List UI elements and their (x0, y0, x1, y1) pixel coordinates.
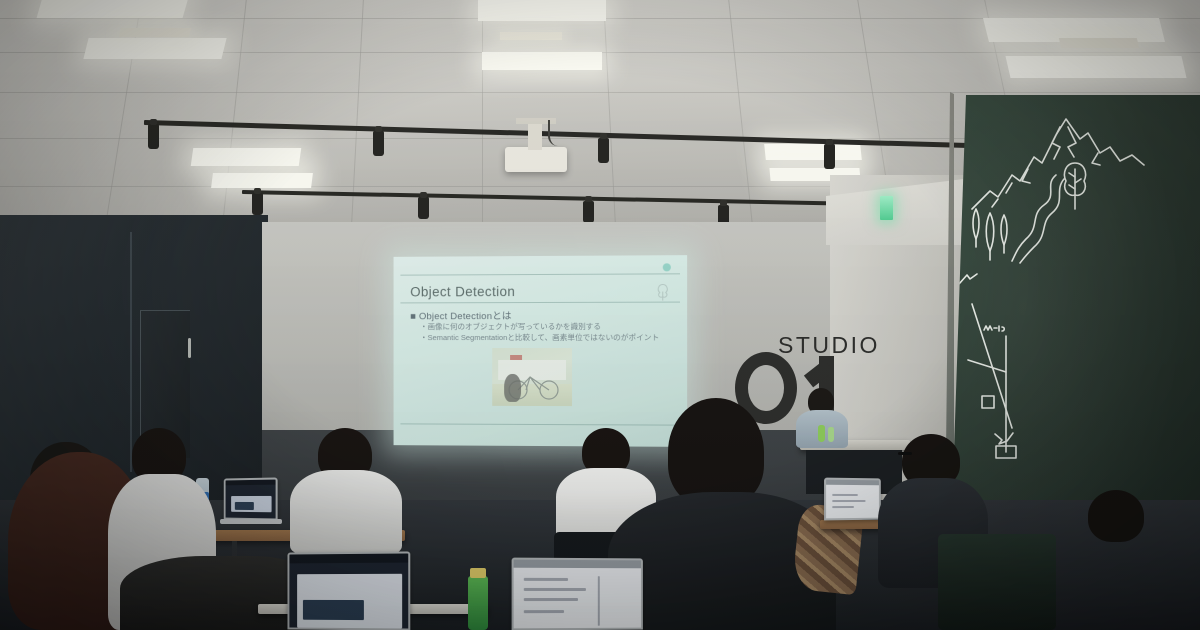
slide-figure-dog-bicycle (492, 348, 572, 406)
track-spotlight (148, 124, 159, 149)
bird-chalk-drawing (958, 273, 978, 287)
track-spotlight (373, 131, 384, 156)
slide-rule-bottom (400, 423, 680, 425)
slide-rule-under-title (400, 302, 680, 304)
mountain-range-chalk-drawing (968, 113, 1158, 223)
laptop-text-line (524, 598, 578, 601)
bird-chalk-drawing (993, 430, 1015, 448)
laptop-screen[interactable] (224, 477, 278, 520)
drink-bottle[interactable] (818, 425, 825, 442)
laptop-panel-divider (598, 576, 600, 626)
welcome-text-chalk-scribble (983, 324, 1007, 333)
presentation-slide: Object Detection ■ Object Detectionとは ・画… (400, 261, 680, 440)
ceiling-light-panel (478, 0, 606, 21)
bottle-cap (470, 568, 486, 578)
laptop-screen[interactable] (512, 558, 643, 630)
emergency-exit-sign (880, 196, 893, 220)
laptop-content-thumb (235, 502, 254, 510)
ceiling-light-panel (500, 32, 562, 40)
ceiling-light-panel (119, 28, 191, 37)
ceiling-light-panel (83, 38, 226, 59)
drink-bottle[interactable] (468, 576, 488, 630)
presentation-room-photo: STUDIO (0, 0, 1200, 630)
door-handle[interactable] (188, 338, 191, 358)
laptop-titlebar (226, 480, 276, 485)
wall-seam (130, 232, 132, 472)
ceiling-light-panel (764, 144, 862, 160)
chair (938, 534, 1056, 630)
slide-logo-dot-icon (663, 263, 671, 271)
drink-bottle[interactable] (828, 427, 834, 442)
ceiling-light-panel (482, 52, 602, 70)
laptop-text-line (524, 610, 564, 613)
laptop-screen[interactable] (824, 478, 881, 521)
ceiling-projector (505, 147, 567, 172)
audience-person-foreground (120, 556, 310, 630)
slide-title: Object Detection (410, 284, 515, 299)
ceiling-light-panel (1059, 38, 1139, 48)
laptop-base[interactable] (220, 519, 282, 524)
eyeglasses-icon (898, 452, 912, 455)
ceiling-light-panel (211, 173, 313, 188)
laptop-text-line (524, 578, 568, 581)
pine-trees-chalk-drawing (968, 205, 1016, 261)
winding-road-chalk-drawing (1010, 173, 1070, 263)
slide-bullet-1: ・画像に何のオブジェクトが写っているかを識別する (420, 321, 601, 332)
track-spotlight (418, 197, 429, 219)
laptop-screen[interactable] (287, 551, 410, 630)
track-spotlight (824, 144, 835, 169)
laptop-text-line (832, 500, 865, 502)
slide-rule-top (400, 273, 680, 275)
laptop-text-line (832, 494, 858, 496)
studio-wall-graphic-word: STUDIO (778, 332, 880, 359)
ceiling-light-panel (1005, 56, 1186, 78)
ceiling-light-panel (37, 0, 190, 18)
laptop-titlebar (514, 560, 641, 569)
audience-body (290, 470, 402, 554)
audience-head-foreground (668, 398, 764, 506)
broadleaf-tree-chalk-drawing (1060, 157, 1090, 212)
laptop-content-thumb (303, 600, 364, 620)
track-spotlight (252, 193, 263, 215)
ceiling-light-panel (191, 148, 302, 166)
laptop-text-line (832, 506, 854, 508)
figure-dog (504, 374, 521, 402)
projection-screen: Object Detection ■ Object Detectionとは ・画… (394, 255, 688, 447)
audience-head (1088, 490, 1144, 542)
projector-mount-arm (528, 122, 542, 150)
track-spotlight (598, 138, 609, 163)
projector-cable (548, 120, 562, 146)
slide-tree-watermark-icon (655, 283, 671, 301)
laptop-titlebar (826, 480, 879, 485)
laptop-text-line (524, 588, 586, 591)
figure-red-sign (510, 355, 522, 360)
laptop-titlebar (289, 553, 408, 563)
track-spotlight (583, 201, 594, 223)
slide-bullet-2: ・Semantic Segmentationと比較して、画素単位ではないのがポイ… (420, 332, 659, 343)
road-sign-post-chalk-drawing (960, 300, 1040, 460)
